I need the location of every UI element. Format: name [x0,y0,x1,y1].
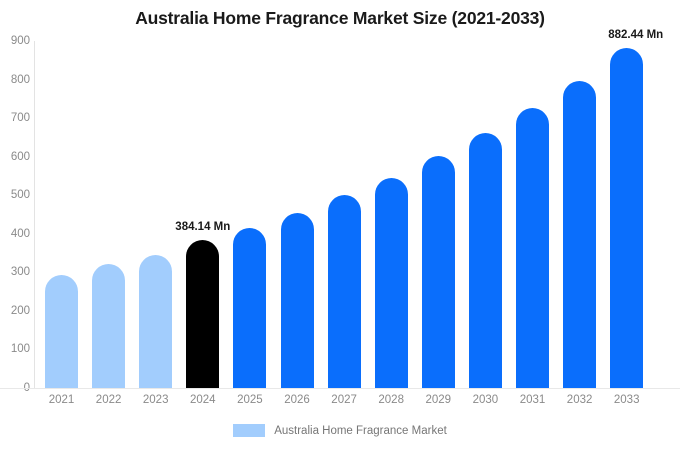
bar-fill-2026 [281,213,314,388]
bar-fill-2023 [139,255,172,388]
y-axis-tick-700: 700 [0,112,30,124]
y-axis-tick-500: 500 [0,189,30,201]
legend-label-australia-home-fragrance-market: Australia Home Fragrance Market [274,425,447,437]
legend-swatch-australia-home-fragrance-market [233,424,265,437]
y-axis: 9008007006005004003002001000 [0,0,30,450]
bar-2031[interactable] [516,108,549,388]
bar-fill-2028 [375,178,408,389]
x-axis-line [0,388,680,389]
y-axis-tick-200: 200 [0,305,30,317]
y-axis-tick-900: 900 [0,35,30,47]
bar-fill-2021 [45,275,78,388]
bar-2021[interactable] [45,275,78,388]
bar-2027[interactable] [328,195,361,388]
bar-2030[interactable] [469,133,502,388]
bar-value-label-2033: 882.44 Mn [608,29,663,41]
bar-fill-2025 [233,228,266,388]
y-axis-tick-300: 300 [0,266,30,278]
bar-fill-2033 [610,48,643,388]
bar-2029[interactable] [422,156,455,388]
bar-fill-2024 [186,240,219,388]
y-axis-tick-400: 400 [0,228,30,240]
chart-title: Australia Home Fragrance Market Size (20… [0,8,680,29]
bar-2028[interactable] [375,178,408,389]
bar-fill-2027 [328,195,361,388]
y-axis-tick-600: 600 [0,151,30,163]
bar-2026[interactable] [281,213,314,388]
y-axis-tick-100: 100 [0,343,30,355]
bar-2032[interactable] [563,81,596,388]
bar-fill-2030 [469,133,502,388]
bar-2033[interactable]: 882.44 Mn [610,48,643,388]
bar-fill-2029 [422,156,455,388]
bar-2023[interactable] [139,255,172,388]
bar-chart: Australia Home Fragrance Market Size (20… [0,0,680,450]
bar-fill-2032 [563,81,596,388]
bar-2022[interactable] [92,264,125,388]
chart-legend: Australia Home Fragrance Market [0,424,680,437]
bar-2025[interactable] [233,228,266,388]
x-axis-tick-2033: 2033 [597,394,657,406]
bar-2024[interactable]: 384.14 Mn [186,240,219,388]
bar-value-label-2024: 384.14 Mn [175,221,230,233]
bar-fill-2031 [516,108,549,388]
y-axis-tick-800: 800 [0,74,30,86]
bar-fill-2022 [92,264,125,388]
